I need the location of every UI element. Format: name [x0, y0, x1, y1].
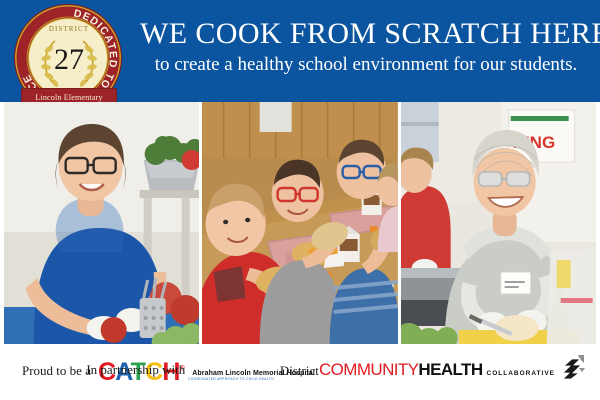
photo-cafeteria-staff-with-apples	[4, 102, 199, 344]
proud-to-be-label: Proud to be a	[22, 363, 91, 379]
chc-collaborative-word: COLLABORATIVE	[487, 370, 556, 377]
headline-block: WE COOK FROM SCRATCH HERE to create a he…	[140, 18, 592, 78]
chc-health-word: HEALTH	[418, 360, 482, 379]
partnership-label: In partnership with	[86, 362, 185, 378]
footer-bar: Proud to be a CATCH® COORDINATED APPROAC…	[0, 344, 600, 400]
photo-3-illustration: KING	[401, 102, 596, 344]
page-title: WE COOK FROM SCRATCH HERE	[140, 18, 592, 50]
community-health-collaborative-logo: Abraham Lincoln Memorial Hospital COMMUN…	[192, 361, 555, 379]
photo-strip: KING	[0, 102, 600, 344]
photo-students-eating-lunch	[202, 102, 397, 344]
chc-wordmark: COMMUNITYHEALTH	[319, 360, 483, 379]
chc-community-word: COMMUNITY	[319, 360, 418, 379]
seal-district-number: 27	[29, 43, 108, 77]
seal-district-label: DISTRICT	[29, 25, 108, 33]
poster-root: WE COOK FROM SCRATCH HERE to create a he…	[0, 0, 600, 400]
hospital-partnership: In partnership with Abraham Lincoln Memo…	[86, 354, 586, 385]
page-subtitle: to create a healthy school environment f…	[140, 52, 592, 78]
photo-2-illustration	[202, 102, 397, 344]
photo-kitchen-worker-chopping: KING	[401, 102, 596, 344]
chc-zigzag-mark-icon	[560, 354, 586, 385]
hospital-name: Abraham Lincoln Memorial Hospital	[192, 370, 315, 377]
photo-1-illustration	[4, 102, 199, 344]
seal-inner-disc: DISTRICT 27	[28, 18, 108, 98]
